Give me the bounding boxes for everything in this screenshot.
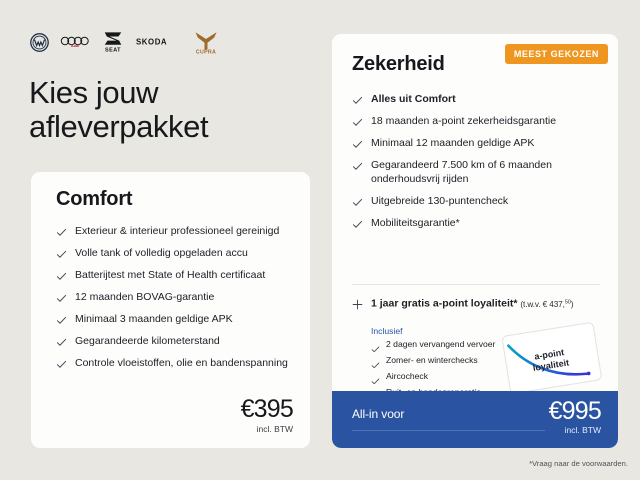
allin-label: All-in voor xyxy=(352,407,404,421)
check-icon xyxy=(56,293,67,304)
svg-text:SKODA: SKODA xyxy=(136,38,167,47)
zekerheid-feature-list: Alles uit Comfort 18 maanden a-point zek… xyxy=(352,92,602,238)
zekerheid-title: Zekerheid xyxy=(352,53,445,76)
loyalty-value-prefix: (t.w.v. € 437, xyxy=(520,300,564,309)
list-item: Mobiliteitsgarantie* xyxy=(352,216,602,230)
svg-text:CUPRA: CUPRA xyxy=(196,49,216,54)
list-item-label: Volle tank of volledig opgeladen accu xyxy=(75,246,248,260)
check-icon xyxy=(352,117,363,128)
list-item: 18 maanden a-point zekerheidsgarantie xyxy=(352,114,602,128)
loyalty-value: (t.w.v. € 437,50) xyxy=(520,300,573,309)
check-icon xyxy=(352,197,363,208)
cupra-logo: CUPRA xyxy=(191,30,221,54)
package-card-comfort[interactable]: Comfort Exterieur & interieur profession… xyxy=(31,172,310,448)
check-icon xyxy=(352,161,363,172)
comfort-title: Comfort xyxy=(56,188,132,211)
list-item: Uitgebreide 130-puntencheck xyxy=(352,194,602,208)
list-item: Gegarandeerd 7.500 km of 6 maanden onder… xyxy=(352,158,602,186)
zekerheid-price-block: €995 incl. BTW xyxy=(549,397,601,435)
list-item-label: Controle vloeistoffen, olie en bandenspa… xyxy=(75,356,288,370)
plus-icon xyxy=(352,297,363,308)
list-item-label: Gegarandeerde kilometerstand xyxy=(75,334,220,348)
list-item: Gegarandeerde kilometerstand xyxy=(56,334,288,348)
check-icon xyxy=(352,139,363,150)
svg-text:SEAT: SEAT xyxy=(105,48,121,53)
zekerheid-price-vat: incl. BTW xyxy=(549,425,601,435)
check-icon xyxy=(371,357,380,366)
loyalty-highlight-row: 1 jaar gratis a-point loyaliteit* (t.w.v… xyxy=(352,295,607,312)
list-item: Exterieur & interieur professioneel gere… xyxy=(56,224,288,238)
audi-logo: Audi xyxy=(60,36,90,48)
list-item: Batterijtest met State of Health certifi… xyxy=(56,268,288,282)
comfort-price: €395 xyxy=(241,396,293,423)
check-icon xyxy=(352,95,363,106)
list-item-label: Minimaal 3 maanden geldige APK xyxy=(75,312,233,326)
list-item-label: Mobiliteitsgarantie* xyxy=(371,216,460,230)
loyalty-label: 1 jaar gratis a-point loyaliteit* (t.w.v… xyxy=(371,295,573,312)
list-item: Minimaal 12 maanden geldige APK xyxy=(352,136,602,150)
footnote: *Vraag naar de voorwaarden. xyxy=(529,459,628,468)
loyalty-card-image: a-point loyaliteit xyxy=(500,320,605,398)
page-title: Kies jouw afleverpakket xyxy=(29,76,309,144)
section-divider xyxy=(352,284,600,285)
list-item-label: Batterijtest met State of Health certifi… xyxy=(75,268,265,282)
skoda-logo: SKODA xyxy=(136,36,180,48)
list-item-label: Minimaal 12 maanden geldige APK xyxy=(371,136,534,150)
page-title-line-1: Kies jouw xyxy=(29,76,309,110)
check-icon xyxy=(56,227,67,238)
check-icon xyxy=(56,315,67,326)
list-item-label: Alles uit Comfort xyxy=(371,92,456,106)
check-icon xyxy=(56,249,67,260)
package-card-zekerheid[interactable]: MEEST GEKOZEN Zekerheid Alles uit Comfor… xyxy=(332,34,618,448)
brand-logo-bar: Audi SEAT SKODA CUPRA xyxy=(30,29,221,55)
list-item: 12 maanden BOVAG-garantie xyxy=(56,290,288,304)
check-icon xyxy=(56,271,67,282)
check-icon xyxy=(56,359,67,370)
check-icon xyxy=(371,373,380,382)
list-item-label: 12 maanden BOVAG-garantie xyxy=(75,290,214,304)
loyalty-title: 1 jaar gratis a-point loyaliteit* xyxy=(371,298,517,310)
check-icon xyxy=(371,341,380,350)
comfort-price-vat: incl. BTW xyxy=(241,424,293,434)
list-item-label: Uitgebreide 130-puntencheck xyxy=(371,194,508,208)
status-badge: MEEST GEKOZEN xyxy=(505,44,608,64)
list-item-label: Gegarandeerd 7.500 km of 6 maanden onder… xyxy=(371,158,602,186)
loyalty-value-suffix: ) xyxy=(571,300,574,309)
list-item-label: 2 dagen vervangend vervoer xyxy=(386,339,495,350)
page-title-line-2: afleverpakket xyxy=(29,110,309,144)
footer-rule xyxy=(352,430,545,431)
list-item: Minimaal 3 maanden geldige APK xyxy=(56,312,288,326)
comfort-feature-list: Exterieur & interieur professioneel gere… xyxy=(56,224,288,378)
list-item-label: Exterieur & interieur professioneel gere… xyxy=(75,224,279,238)
volkswagen-logo xyxy=(30,33,49,52)
seat-logo: SEAT xyxy=(101,31,125,53)
comfort-price-block: €395 incl. BTW xyxy=(241,396,293,434)
list-item: Controle vloeistoffen, olie en bandenspa… xyxy=(56,356,288,370)
list-item: Volle tank of volledig opgeladen accu xyxy=(56,246,288,260)
zekerheid-price-footer: All-in voor €995 incl. BTW xyxy=(332,391,618,448)
list-item-label: 18 maanden a-point zekerheidsgarantie xyxy=(371,114,556,128)
zekerheid-price: €995 xyxy=(549,397,601,425)
list-item-label: Zomer- en winterchecks xyxy=(386,355,478,366)
inclusief-label: Inclusief xyxy=(371,326,403,336)
check-icon xyxy=(56,337,67,348)
list-item-label: Aircocheck xyxy=(386,371,428,382)
list-item: Alles uit Comfort xyxy=(352,92,602,106)
svg-text:Audi: Audi xyxy=(71,44,79,48)
check-icon xyxy=(352,219,363,230)
